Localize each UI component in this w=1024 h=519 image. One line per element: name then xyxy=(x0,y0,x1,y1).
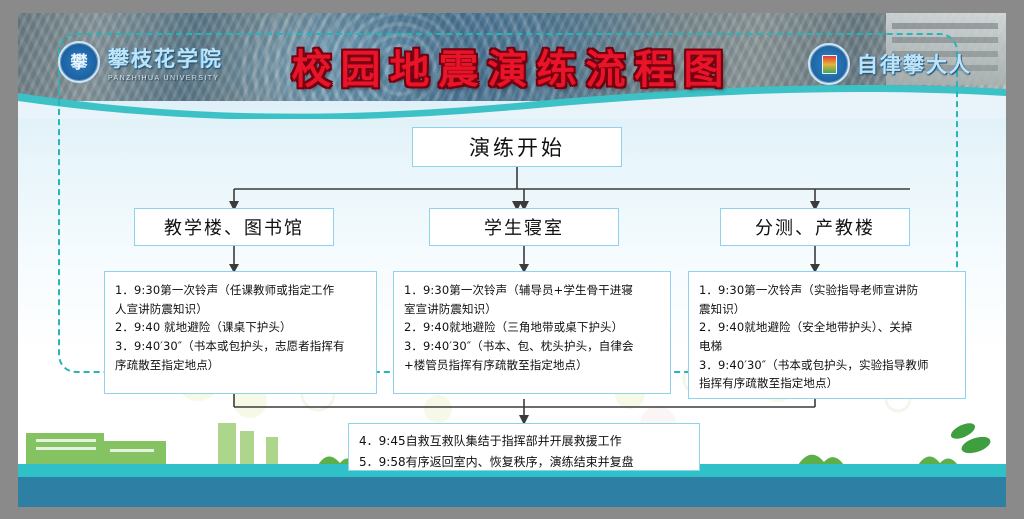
detail-line: 3．9:40′30″（书本或包护头，志愿者指挥有 xyxy=(115,337,366,356)
flow-node-category-teaching-library[interactable]: 教学楼、图书馆 xyxy=(134,208,334,246)
detail-line: 2．9:40 就地避险（课桌下护头） xyxy=(115,318,366,337)
flow-node-detail-lab-building[interactable]: 1．9:30第一次铃声（实验指导老师宣讲防 震知识） 2．9:40就地避险（安全… xyxy=(688,271,966,399)
flow-node-start-label: 演练开始 xyxy=(469,132,565,162)
flow-node-category-label: 学生寝室 xyxy=(484,214,564,240)
detail-line: +楼管员指挥有序疏散至指定地点） xyxy=(404,356,660,375)
flow-node-final-summary[interactable]: 4．9:45自救互救队集结于指挥部并开展救援工作 5．9:58有序返回室内、恢复… xyxy=(348,423,700,471)
slogan-text: 自律攀大人 xyxy=(857,49,972,79)
detail-line: 电梯 xyxy=(699,337,955,356)
final-line: 5．9:58有序返回室内、恢复秩序，演练结束并复盘 xyxy=(359,452,689,473)
detail-line: 2．9:40就地避险（安全地带护头）、关掉 xyxy=(699,318,955,337)
detail-line: 指挥有序疏散至指定地点） xyxy=(699,374,955,393)
detail-line: 3．9:40′30″（书本或包护头，实验指导教师 xyxy=(699,356,955,375)
flow-node-detail-teaching-library[interactable]: 1．9:30第一次铃声（任课教师或指定工作 人宣讲防震知识） 2．9:40 就地… xyxy=(104,271,377,394)
detail-line: 序疏散至指定地点） xyxy=(115,356,366,375)
slogan-logo: 自律攀大人 xyxy=(808,43,972,85)
flow-node-category-lab-building[interactable]: 分测、产教楼 xyxy=(720,208,910,246)
poster-root: 攀 攀枝花学院 PANZHIHUA UNIVERSITY 校园地震演练流程图 自… xyxy=(0,0,1024,519)
detail-line: 室宣讲防震知识） xyxy=(404,300,660,319)
poster-inner: 攀 攀枝花学院 PANZHIHUA UNIVERSITY 校园地震演练流程图 自… xyxy=(18,13,1006,507)
flow-node-category-dormitory[interactable]: 学生寝室 xyxy=(429,208,619,246)
seal-stripe-icon xyxy=(822,55,837,74)
final-line: 4．9:45自救互救队集结于指挥部并开展救援工作 xyxy=(359,431,689,452)
detail-line: 人宣讲防震知识） xyxy=(115,300,366,319)
detail-line: 1．9:30第一次铃声（辅导员+学生骨干进寝 xyxy=(404,281,660,300)
detail-line: 3．9:40′30″（书本、包、枕头护头，自律会 xyxy=(404,337,660,356)
slogan-seal-icon xyxy=(808,43,850,85)
detail-line: 1．9:30第一次铃声（任课教师或指定工作 xyxy=(115,281,366,300)
flowchart: 演练开始 教学楼、图书馆 学生寝室 分测、产教楼 1．9:30第一次铃声（任课教… xyxy=(18,101,1006,507)
flow-node-start[interactable]: 演练开始 xyxy=(412,127,622,167)
flow-node-detail-dormitory[interactable]: 1．9:30第一次铃声（辅导员+学生骨干进寝 室宣讲防震知识） 2．9:40就地… xyxy=(393,271,671,394)
flow-node-category-label: 教学楼、图书馆 xyxy=(164,214,304,240)
detail-line: 1．9:30第一次铃声（实验指导老师宣讲防 xyxy=(699,281,955,300)
flow-node-category-label: 分测、产教楼 xyxy=(755,214,875,240)
detail-line: 震知识） xyxy=(699,300,955,319)
detail-line: 2．9:40就地避险（三角地带或桌下护头） xyxy=(404,318,660,337)
